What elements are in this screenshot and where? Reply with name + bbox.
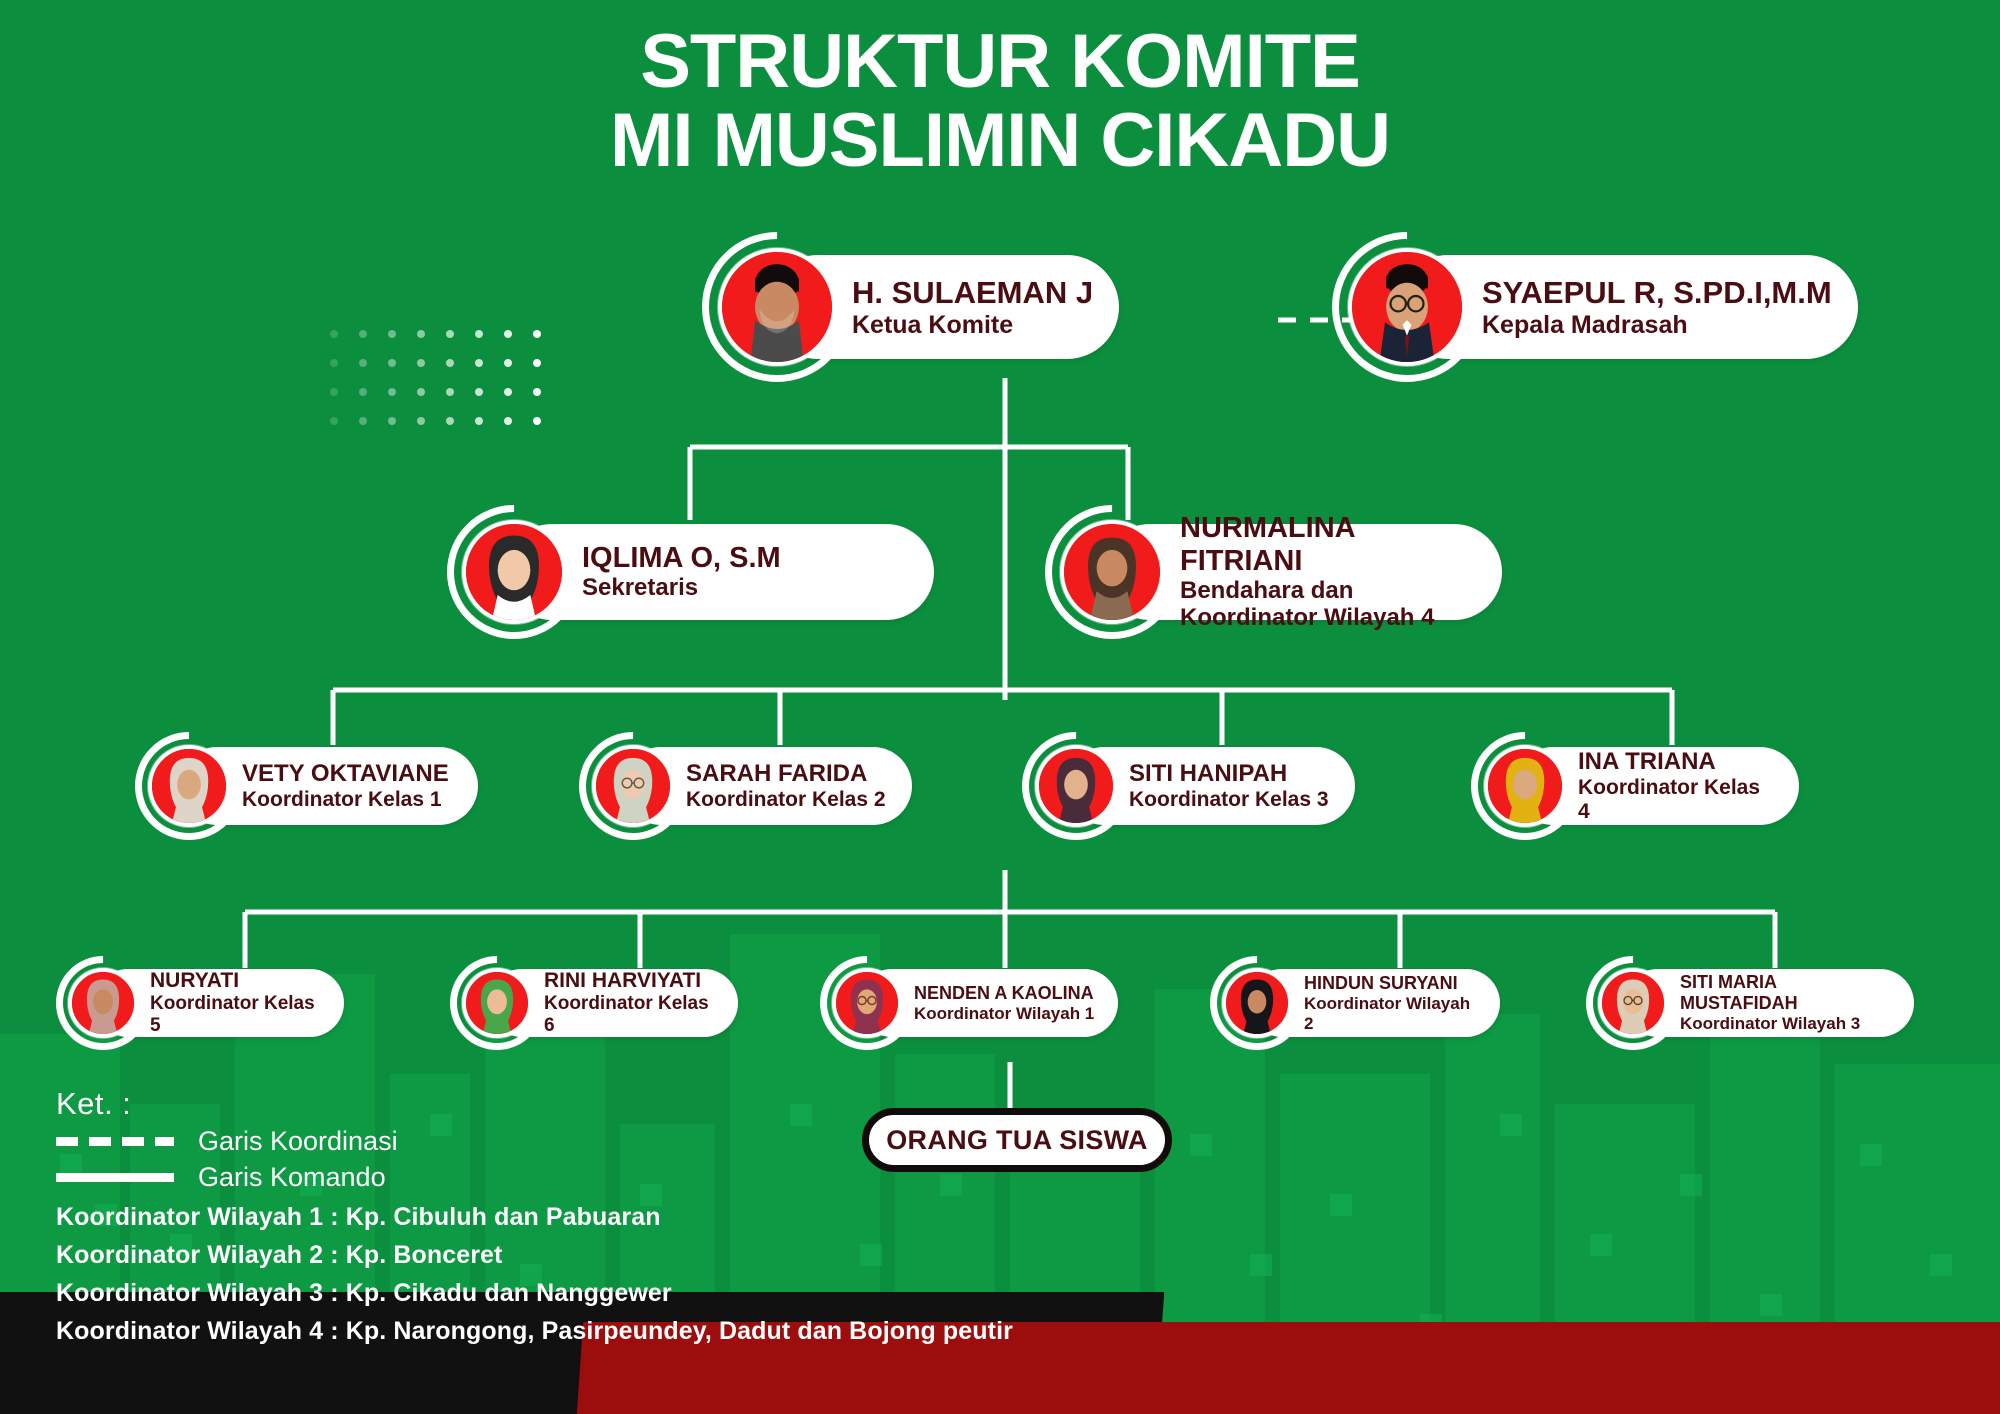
coordinator-wilayah-2-role: Koordinator Wilayah 2 (1304, 994, 1480, 1034)
node-headmaster[interactable]: SYAEPUL R, S.PD.I,M.M Kepala Madrasah (1348, 248, 1858, 366)
treasurer-name: NURMALINA FITRIANI (1180, 512, 1478, 578)
node-coordinator-kelas-3[interactable]: SITI HANIPAH Koordinator Kelas 3 (1035, 745, 1355, 827)
legend-label-koordinasi: Garis Koordinasi (198, 1126, 398, 1157)
coordinator-wilayah-3-role: Koordinator Wilayah 3 (1680, 1014, 1894, 1034)
coordinator-wilayah-2-name: HINDUN SURYANI (1304, 973, 1480, 994)
headmaster-name: SYAEPUL R, S.PD.I,M.M (1482, 275, 1832, 311)
photo-chairman (718, 248, 836, 366)
photo-coordinator-kelas-4 (1484, 745, 1566, 827)
photo-coordinator-kelas-3 (1035, 745, 1117, 827)
photo-treasurer (1060, 520, 1164, 624)
avatar-secretary (462, 520, 566, 624)
node-coordinator-kelas-5[interactable]: NURYATI Koordinator Kelas 5 (68, 968, 344, 1038)
avatar-coordinator-wilayah-3 (1598, 968, 1668, 1038)
node-coordinator-wilayah-3[interactable]: SITI MARIA MUSTAFIDAH Koordinator Wilaya… (1598, 968, 1914, 1038)
coordinator-kelas-4-name: INA TRIANA (1578, 748, 1777, 776)
legend-region-2: Koordinator Wilayah 2 : Kp. Bonceret (56, 1241, 1013, 1270)
photo-coordinator-kelas-6 (462, 968, 532, 1038)
node-coordinator-kelas-2[interactable]: SARAH FARIDA Koordinator Kelas 2 (592, 745, 912, 827)
avatar-coordinator-kelas-4 (1484, 745, 1566, 827)
coordinator-kelas-5-name: NURYATI (150, 969, 324, 993)
photo-coordinator-kelas-1 (148, 745, 230, 827)
avatar-coordinator-kelas-3 (1035, 745, 1117, 827)
photo-coordinator-wilayah-1 (832, 968, 902, 1038)
headmaster-role: Kepala Madrasah (1482, 311, 1832, 340)
legend-heading: Ket. : (56, 1086, 1013, 1122)
photo-headmaster (1348, 248, 1466, 366)
chairman-role: Ketua Komite (852, 311, 1093, 340)
page-title: STRUKTUR KOMITE MI MUSLIMIN CIKADU (0, 22, 2000, 180)
secretary-role: Sekretaris (582, 575, 910, 602)
avatar-coordinator-kelas-5 (68, 968, 138, 1038)
chairman-name: H. SULAEMAN J (852, 275, 1093, 311)
photo-coordinator-wilayah-2 (1222, 968, 1292, 1038)
legend-region-4: Koordinator Wilayah 4 : Kp. Narongong, P… (56, 1317, 1013, 1346)
title-line-2: MI MUSLIMIN CIKADU (0, 101, 2000, 180)
avatar-coordinator-kelas-6 (462, 968, 532, 1038)
avatar-headmaster (1348, 248, 1466, 366)
node-secretary[interactable]: IQLIMA O, S.M Sekretaris (462, 520, 934, 624)
coordinator-kelas-2-role: Koordinator Kelas 2 (686, 788, 890, 812)
photo-secretary (462, 520, 566, 624)
node-coordinator-wilayah-2[interactable]: HINDUN SURYANI Koordinator Wilayah 2 (1222, 968, 1500, 1038)
legend-region-3: Koordinator Wilayah 3 : Kp. Cikadu dan N… (56, 1279, 1013, 1308)
legend-item-koordinasi: Garis Koordinasi (56, 1124, 1013, 1158)
coordinator-kelas-2-name: SARAH FARIDA (686, 760, 890, 788)
node-coordinator-kelas-6[interactable]: RINI HARVIYATI Koordinator Kelas 6 (462, 968, 738, 1038)
coordinator-kelas-3-role: Koordinator Kelas 3 (1129, 788, 1333, 812)
coordinator-wilayah-3-name: SITI MARIA MUSTAFIDAH (1680, 972, 1894, 1014)
node-coordinator-kelas-4[interactable]: INA TRIANA Koordinator Kelas 4 (1484, 745, 1799, 827)
avatar-chairman (718, 248, 836, 366)
dashed-line-swatch (56, 1137, 174, 1146)
legend-item-komando: Garis Komando (56, 1160, 1013, 1194)
node-coordinator-kelas-1[interactable]: VETY OKTAVIANE Koordinator Kelas 1 (148, 745, 478, 827)
treasurer-role-2: Koordinator Wilayah 4 (1180, 605, 1478, 632)
legend: Ket. : Garis Koordinasi Garis Komando Ko… (56, 1086, 1013, 1346)
coordinator-kelas-4-role: Koordinator Kelas 4 (1578, 776, 1777, 824)
avatar-coordinator-kelas-1 (148, 745, 230, 827)
coordinator-kelas-3-name: SITI HANIPAH (1129, 760, 1333, 788)
coordinator-kelas-6-role: Koordinator Kelas 6 (544, 993, 718, 1037)
secretary-name: IQLIMA O, S.M (582, 542, 910, 575)
node-chairman[interactable]: H. SULAEMAN J Ketua Komite (718, 248, 1119, 366)
legend-label-komando: Garis Komando (198, 1162, 386, 1193)
photo-coordinator-wilayah-3 (1598, 968, 1668, 1038)
solid-line-swatch (56, 1173, 174, 1182)
coordinator-kelas-6-name: RINI HARVIYATI (544, 969, 718, 993)
avatar-treasurer (1060, 520, 1164, 624)
coordinator-kelas-5-role: Koordinator Kelas 5 (150, 993, 324, 1037)
coordinator-wilayah-1-role: Koordinator Wilayah 1 (914, 1004, 1098, 1024)
coordinator-wilayah-1-name: NENDEN A KAOLINA (914, 983, 1098, 1004)
node-coordinator-wilayah-1[interactable]: NENDEN A KAOLINA Koordinator Wilayah 1 (832, 968, 1118, 1038)
node-treasurer[interactable]: NURMALINA FITRIANI Bendahara dan Koordin… (1060, 520, 1502, 624)
avatar-coordinator-wilayah-2 (1222, 968, 1292, 1038)
coordinator-kelas-1-name: VETY OKTAVIANE (242, 760, 456, 788)
photo-coordinator-kelas-5 (68, 968, 138, 1038)
photo-coordinator-kelas-2 (592, 745, 674, 827)
title-line-1: STRUKTUR KOMITE (640, 19, 1360, 104)
avatar-coordinator-kelas-2 (592, 745, 674, 827)
treasurer-role: Bendahara dan (1180, 578, 1478, 605)
coordinator-kelas-1-role: Koordinator Kelas 1 (242, 788, 456, 812)
legend-region-1: Koordinator Wilayah 1 : Kp. Cibuluh dan … (56, 1203, 1013, 1232)
avatar-coordinator-wilayah-1 (832, 968, 902, 1038)
